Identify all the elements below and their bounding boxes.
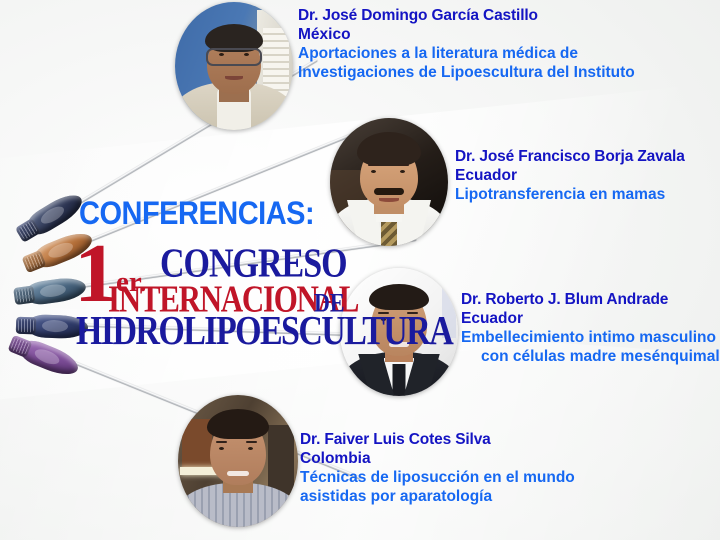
speaker-info-cotes-silva: Dr. Faiver Luis Cotes Silva Colombia Téc… xyxy=(300,430,575,506)
speaker-topic-line: Embellecimiento intimo masculino xyxy=(461,328,720,347)
speaker-info-garcia-castillo: Dr. José Domingo García Castillo México … xyxy=(298,6,635,82)
cannula-handle xyxy=(6,332,83,381)
speaker-topic-line: Investigaciones de Lipoescultura del Ins… xyxy=(298,63,635,82)
speaker-topic-line: asistidas por aparatología xyxy=(300,487,575,506)
speaker-name: Dr. José Domingo García Castillo xyxy=(298,6,635,25)
necktie xyxy=(393,364,406,396)
congress-logo: CONFERENCIAS: 1 er. CONGRESO INTERNACION… xyxy=(74,196,354,356)
speaker-country: Ecuador xyxy=(455,166,685,185)
speaker-country: México xyxy=(298,25,635,44)
speaker-country: Colombia xyxy=(300,449,575,468)
speaker-info-blum-andrade: Dr. Roberto J. Blum Andrade Ecuador Embe… xyxy=(461,290,720,366)
speaker-topic-line: con células madre mesénquimales xyxy=(461,347,720,366)
speaker-info-borja-zavala: Dr. José Francisco Borja Zavala Ecuador … xyxy=(455,147,685,204)
speaker-topic-line: Aportaciones a la literatura médica de xyxy=(298,44,635,63)
speaker-name: Dr. José Francisco Borja Zavala xyxy=(455,147,685,166)
portrait-garcia-castillo xyxy=(175,2,293,130)
logo-hidrolipoescultura-word: HIDROLIPOESCULTURA xyxy=(76,311,452,352)
speaker-topic-line: Lipotransferencia en mamas xyxy=(455,185,685,204)
portrait-cotes-silva xyxy=(178,395,298,527)
conference-poster: CONFERENCIAS: 1 er. CONGRESO INTERNACION… xyxy=(0,0,720,540)
speaker-country: Ecuador xyxy=(461,309,720,328)
speaker-name: Dr. Roberto J. Blum Andrade xyxy=(461,290,720,309)
speaker-name: Dr. Faiver Luis Cotes Silva xyxy=(300,430,575,449)
moustache xyxy=(374,188,404,195)
speaker-topic-line: Técnicas de liposucción en el mundo xyxy=(300,468,575,487)
